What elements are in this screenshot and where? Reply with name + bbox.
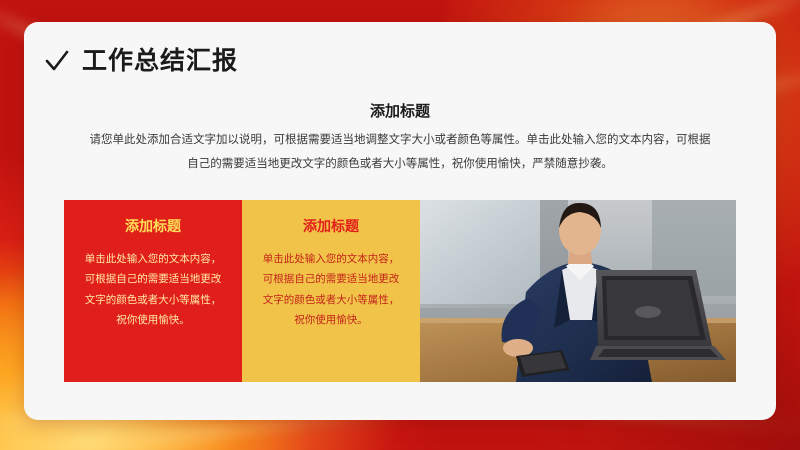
page-title: 工作总结汇报	[82, 49, 238, 74]
section-heading: 添加标题	[24, 100, 776, 121]
panel-red[interactable]: 添加标题 单击此处输入您的文本内容，可根据自己的需要适当地更改文字的颜色或者大小…	[64, 200, 242, 382]
panel-group: 添加标题 单击此处输入您的文本内容，可根据自己的需要适当地更改文字的颜色或者大小…	[64, 200, 736, 382]
panel-yellow-title: 添加标题	[258, 216, 404, 236]
content-card: 工作总结汇报 添加标题 请您单此处添加合适文字加以说明，可根据需要适当地调整文字…	[24, 22, 776, 420]
panel-yellow-text: 单击此处输入您的文本内容，可根据自己的需要适当地更改文字的颜色或者大小等属性，祝…	[258, 249, 404, 331]
panel-photo	[420, 200, 736, 382]
panel-yellow[interactable]: 添加标题 单击此处输入您的文本内容，可根据自己的需要适当地更改文字的颜色或者大小…	[242, 200, 420, 382]
panel-red-text: 单击此处输入您的文本内容，可根据自己的需要适当地更改文字的颜色或者大小等属性，祝…	[80, 249, 226, 331]
check-icon	[44, 48, 70, 74]
section-body-text: 请您单此处添加合适文字加以说明，可根据需要适当地调整文字大小或者颜色等属性。单击…	[84, 129, 716, 176]
panel-red-title: 添加标题	[80, 216, 226, 236]
title-row: 工作总结汇报	[44, 48, 238, 74]
slide-root: 工作总结汇报 添加标题 请您单此处添加合适文字加以说明，可根据需要适当地调整文字…	[0, 0, 800, 450]
